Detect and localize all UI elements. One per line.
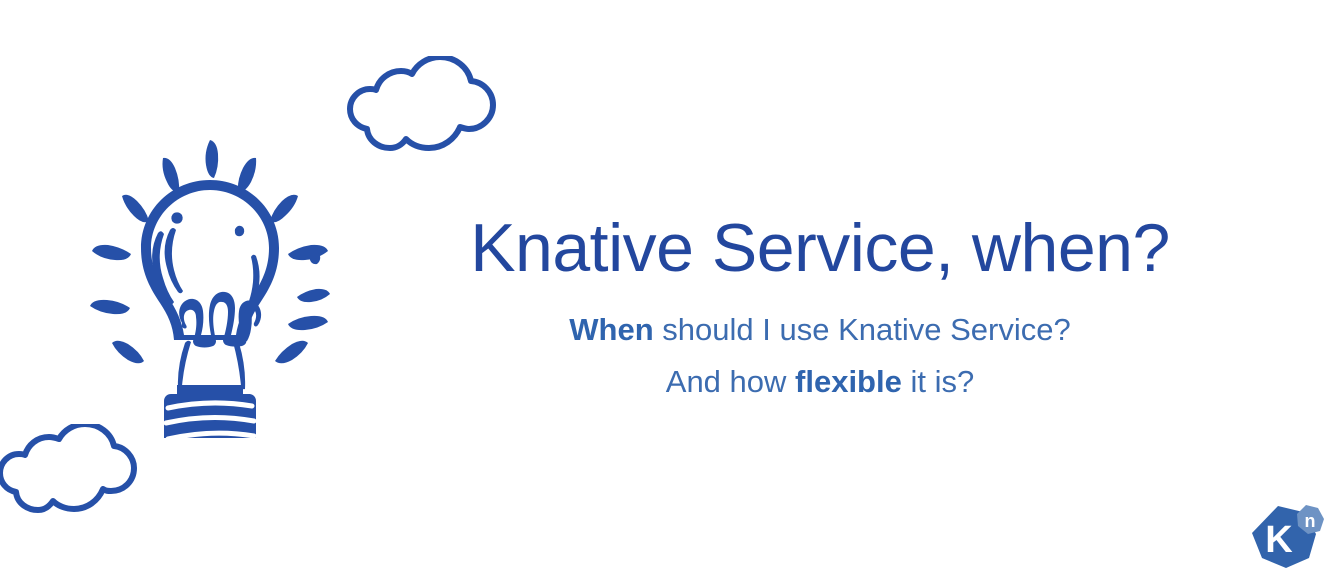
subtitle-line-1-strong: When (569, 312, 653, 347)
subtitle-line-2-lead: And how (666, 364, 795, 399)
subtitle-line-2-rest: it is? (902, 364, 974, 399)
subtitle-line-1: When should I use Knative Service? (330, 304, 1310, 356)
lightbulb-illustration (60, 118, 360, 438)
subtitle: When should I use Knative Service? And h… (330, 304, 1310, 408)
cloud-illustration-bottom (0, 424, 144, 526)
slide-canvas: Knative Service, when? When should I use… (0, 0, 1341, 585)
subtitle-line-2: And how flexible it is? (330, 356, 1310, 408)
subtitle-line-2-strong: flexible (795, 364, 902, 399)
text-block: Knative Service, when? When should I use… (330, 214, 1310, 408)
knative-logo: K n (1248, 500, 1328, 575)
page-title: Knative Service, when? (330, 214, 1310, 282)
cloud-illustration-top (344, 56, 504, 166)
knative-logo-letter-n: n (1305, 511, 1316, 531)
subtitle-line-1-rest: should I use Knative Service? (654, 312, 1071, 347)
knative-logo-letter-k: K (1265, 519, 1293, 561)
